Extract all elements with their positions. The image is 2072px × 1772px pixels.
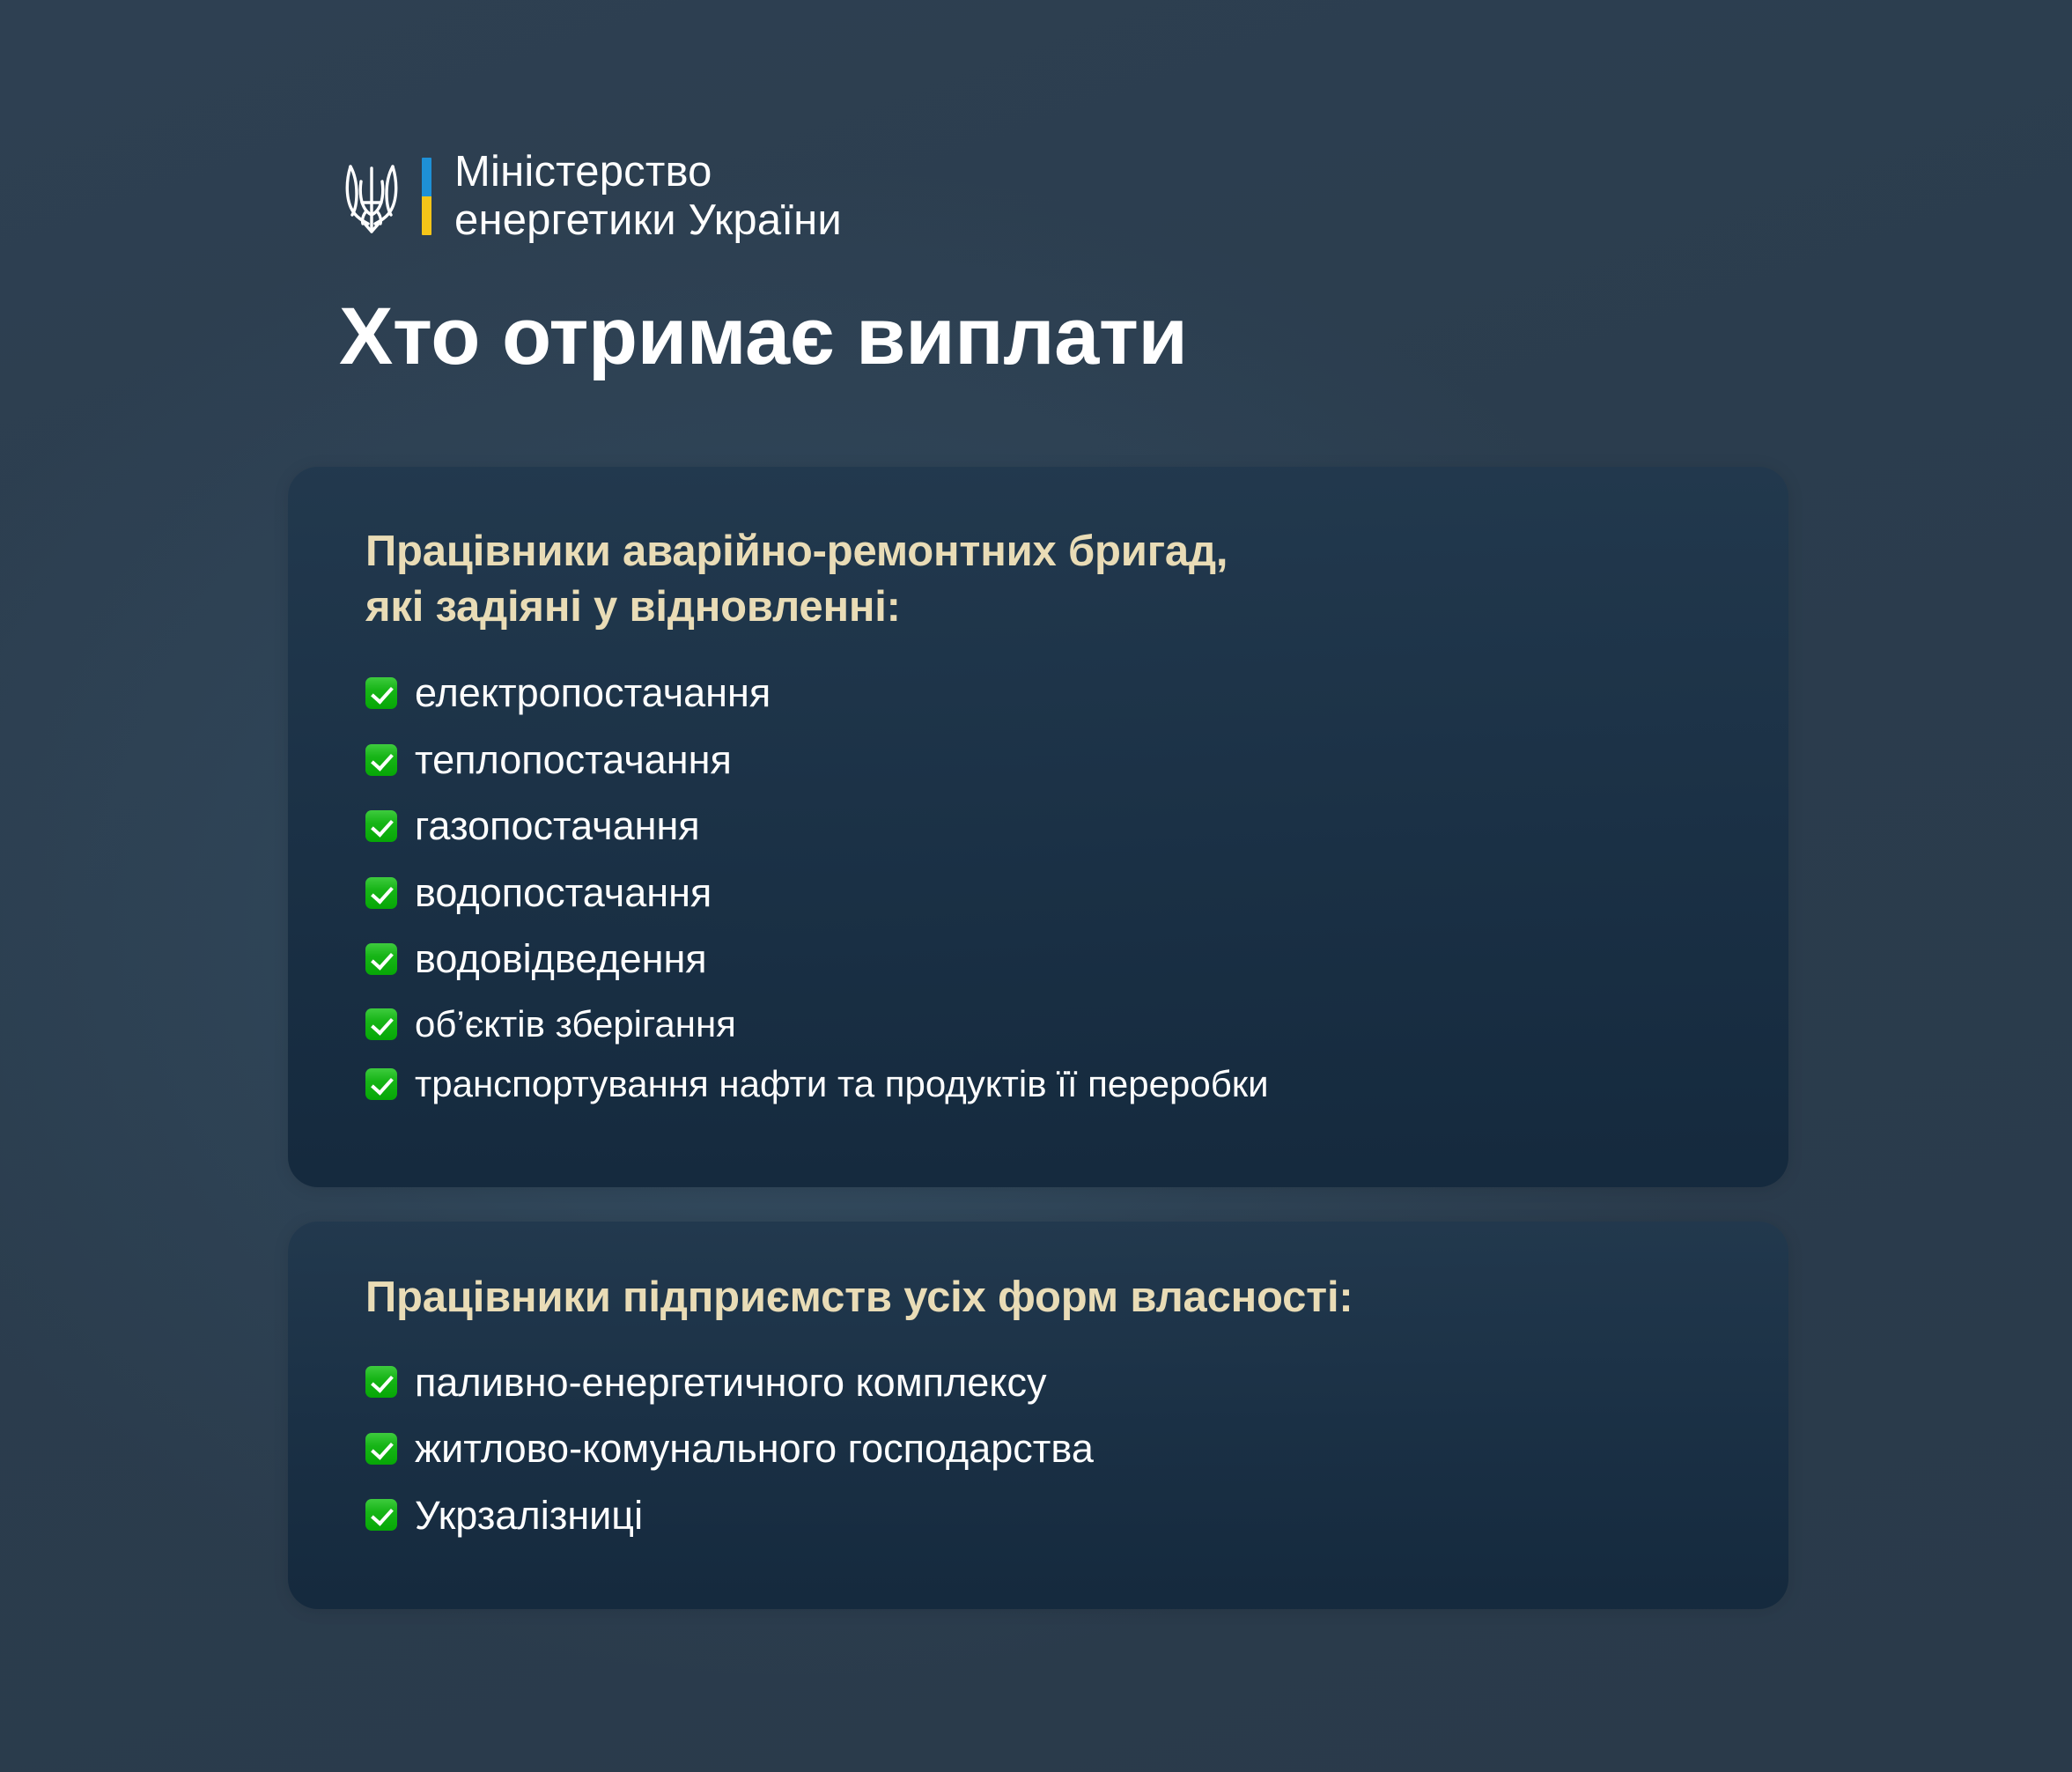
green-check-icon [365,1499,397,1531]
list-item: житлово-комунального господарства [365,1427,1788,1471]
green-check-icon [365,943,397,975]
green-check-icon [365,877,397,909]
list-item-label: Укрзалізниці [415,1494,643,1538]
card-heading: Працівники аварійно-ремонтних бригад, як… [365,524,1788,634]
ukrainian-trident-icon [339,154,404,239]
page-title: Хто отримає виплати [339,291,1187,383]
list-item: водопостачання [365,871,1788,915]
infographic-page: Міністерство енергетики України Хто отри… [0,0,2072,1772]
list-item-label: електропостачання [415,671,771,715]
list-item: транспортування нафти та продуктів її пе… [365,1064,1788,1104]
green-check-icon [365,810,397,842]
green-check-icon [365,1366,397,1398]
list-item-label: водопостачання [415,871,712,915]
list-item-label: об’єктів зберігання [415,1004,736,1045]
benefit-list-enterprise: паливно-енергетичного комплексу житлово-… [365,1361,1788,1538]
green-check-icon [365,1433,397,1465]
benefit-list-emergency: електропостачання теплопостачання газопо… [365,671,1788,1104]
ministry-name: Міністерство енергетики України [454,148,842,245]
card-heading: Працівники підприємств усіх форм власнос… [365,1270,1788,1325]
list-item: паливно-енергетичного комплексу [365,1361,1788,1405]
list-item: газопостачання [365,804,1788,848]
green-check-icon [365,1008,397,1040]
list-item: електропостачання [365,671,1788,715]
list-item: Укрзалізниці [365,1494,1788,1538]
list-item-label: теплопостачання [415,738,732,782]
list-item-label: транспортування нафти та продуктів її пе… [415,1064,1269,1104]
list-item-label: газопостачання [415,804,700,848]
list-item-label: паливно-енергетичного комплексу [415,1361,1046,1405]
list-item-label: житлово-комунального господарства [415,1427,1094,1471]
card-emergency-repair-crews: Працівники аварійно-ремонтних бригад, як… [288,467,1788,1187]
list-item: теплопостачання [365,738,1788,782]
green-check-icon [365,677,397,709]
list-item: об’єктів зберігання [365,1004,1788,1045]
ministry-logo: Міністерство енергетики України [339,148,842,245]
green-check-icon [365,1068,397,1100]
list-item: водовідведення [365,937,1788,981]
green-check-icon [365,744,397,776]
list-item-label: водовідведення [415,937,707,981]
ukraine-flag-divider-icon [422,158,431,235]
card-all-ownership-enterprises: Працівники підприємств усіх форм власнос… [288,1222,1788,1609]
